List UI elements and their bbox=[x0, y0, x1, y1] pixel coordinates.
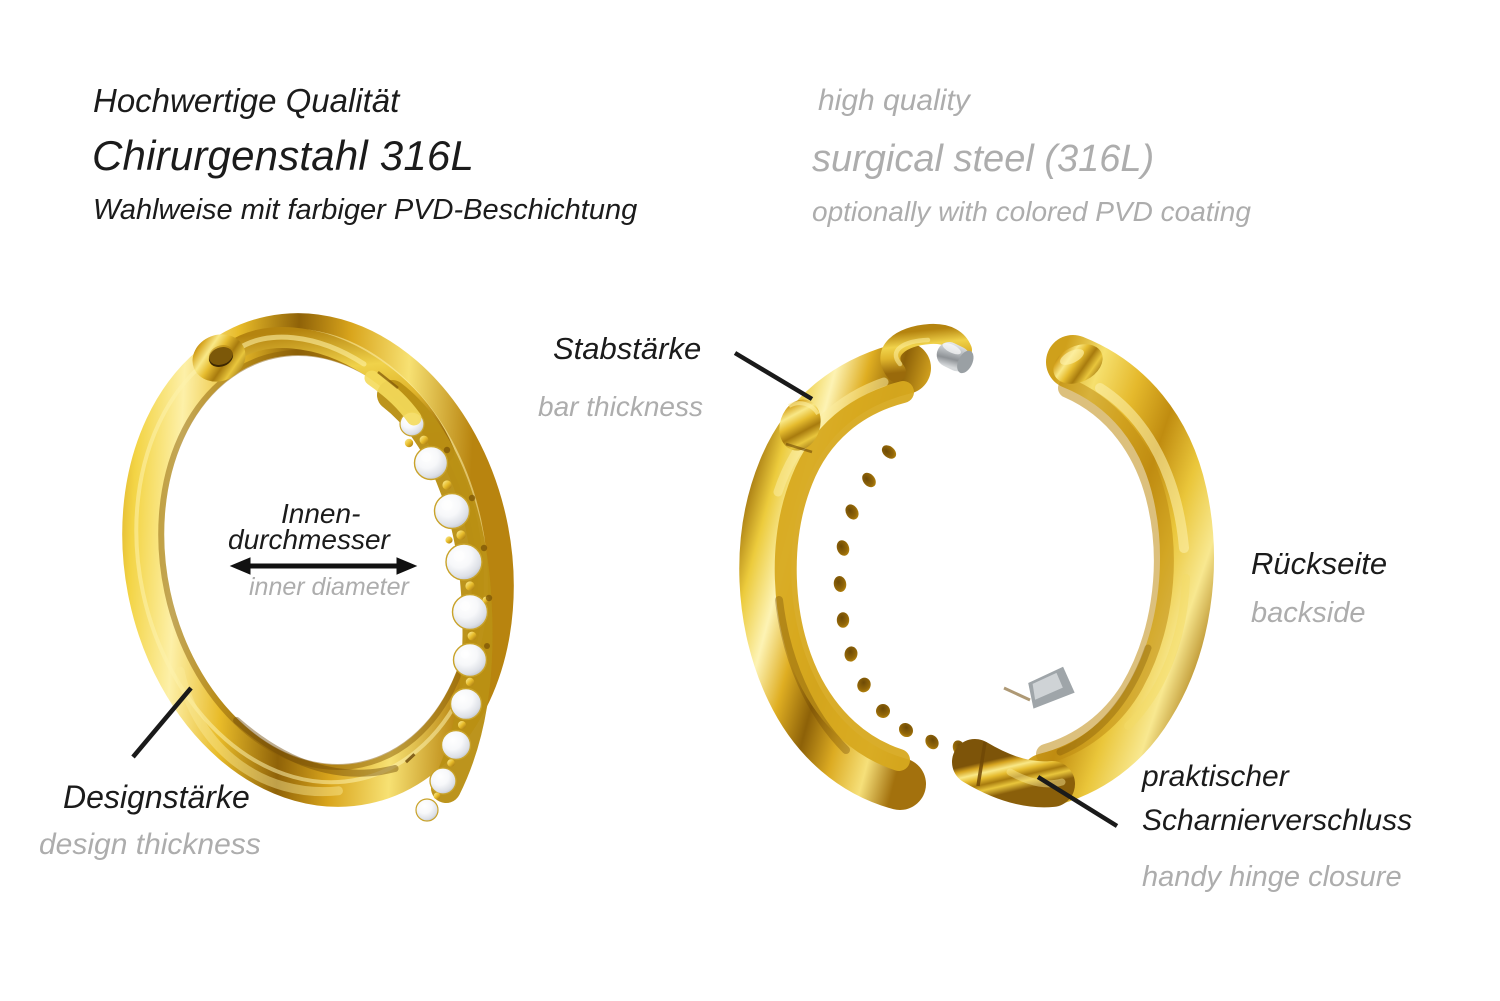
callout-inner-diameter-english: inner diameter bbox=[249, 573, 409, 602]
header-english-line1: high quality bbox=[818, 84, 970, 118]
callout-backside-german: Rückseite bbox=[1251, 546, 1387, 582]
right-hoop-post-bar bbox=[890, 334, 962, 372]
hinge-closure-leader-line bbox=[1038, 777, 1117, 826]
design-thickness-leader-line bbox=[133, 688, 191, 757]
inner-diameter-arrow-icon bbox=[231, 558, 416, 574]
callout-bar-thickness-english: bar thickness bbox=[538, 391, 703, 423]
left-hoop-hinge-socket bbox=[185, 327, 252, 390]
right-hoop-hinge-knuckle-top bbox=[773, 394, 827, 456]
callout-bar-thickness-german: Stabstärke bbox=[553, 331, 701, 367]
callout-hinge-closure-english: handy hinge closure bbox=[1142, 861, 1402, 894]
header-german-line3: Wahlweise mit farbiger PVD-Beschichtung bbox=[93, 194, 637, 227]
callout-design-thickness-english: design thickness bbox=[39, 828, 261, 862]
right-hoop-right-segment bbox=[1046, 362, 1187, 780]
product-infographic: Hochwertige Qualität Chirurgenstahl 316L… bbox=[0, 0, 1500, 1001]
header-german-line1: Hochwertige Qualität bbox=[93, 82, 399, 120]
callout-design-thickness-german: Designstärke bbox=[63, 779, 250, 816]
right-hoop-hinge-closure bbox=[975, 666, 1076, 786]
right-hoop-illustration bbox=[765, 334, 1187, 786]
callout-hinge-closure-german-line1: praktischer bbox=[1142, 760, 1289, 794]
callout-hinge-closure-german-line2: Scharnierverschluss bbox=[1142, 804, 1412, 838]
bar-thickness-leader-line bbox=[735, 353, 812, 399]
left-hoop-illustration bbox=[95, 296, 534, 822]
header-english-line3: optionally with colored PVD coating bbox=[812, 196, 1251, 228]
header-english-line2: surgical steel (316L) bbox=[812, 138, 1154, 181]
left-hoop-gem-row bbox=[392, 395, 492, 821]
right-hoop-left-segment bbox=[765, 368, 905, 784]
callout-backside-english: backside bbox=[1251, 597, 1365, 630]
left-hoop-post-bar bbox=[232, 338, 444, 452]
header-german-line2: Chirurgenstahl 316L bbox=[92, 132, 474, 180]
gem-stones bbox=[400, 412, 488, 821]
right-hoop-setting-holes bbox=[833, 443, 968, 758]
gem-prongs bbox=[405, 436, 490, 800]
callout-inner-diameter-german-line2: durchmesser bbox=[228, 524, 390, 556]
right-hoop-steel-tip bbox=[933, 338, 977, 377]
